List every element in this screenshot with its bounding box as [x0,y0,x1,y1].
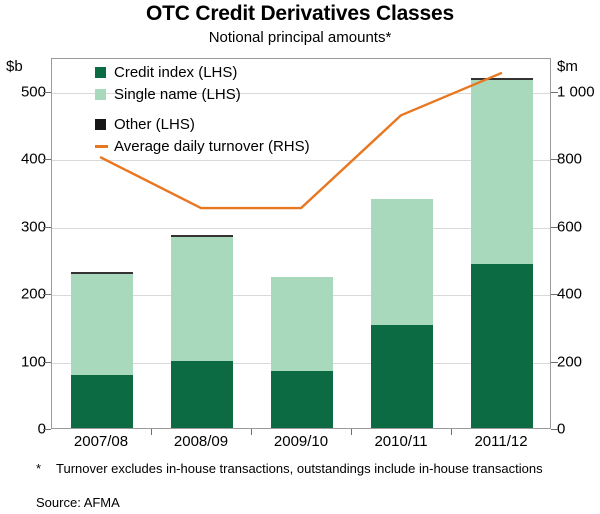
y-axis-left-tick-label: 100 [0,353,46,370]
chart-title: OTC Credit Derivatives Classes [0,2,600,26]
bar-segment-credit-index[interactable] [471,264,533,428]
bar-segment-credit-index[interactable] [371,325,433,428]
y-axis-right-tick-label: 800 [557,151,582,168]
legend-item-average-daily-turnover: Average daily turnover (RHS) [95,136,310,157]
x-axis-tick-label: 2011/12 [474,433,527,450]
y-axis-right-tick-label: 0 [557,421,565,438]
y-axis-left-tick-mark [43,294,51,295]
x-axis-tick-mark [351,429,352,435]
y-axis-left-tick-label: 0 [0,421,46,438]
legend-swatch-other-icon [95,119,106,130]
bar-segment-other[interactable] [471,78,533,80]
x-axis-tick-label: 2008/09 [174,433,228,450]
footnote-marker: * [36,461,52,477]
y-axis-left-tick-label: 400 [0,151,46,168]
chart-legend: Credit index (LHS) Single name (LHS) Oth… [95,62,310,158]
bar-group[interactable] [371,57,433,428]
y-axis-right-tick-mark [551,227,558,228]
y-axis-right-tick-mark [551,159,558,160]
footnote: * Turnover excludes in-house transaction… [36,461,566,477]
y-axis-left-tick-mark [43,159,51,160]
y-axis-right-tick-label: 600 [557,218,582,235]
right-axis-unit-label: $m [557,58,578,75]
y-axis-left-tick-mark [43,362,51,363]
bar-segment-single-name[interactable] [471,80,533,264]
footnote-text: Turnover excludes in-house transactions,… [56,461,566,477]
y-axis-right-tick-mark [551,92,558,93]
legend-item-other: Other (LHS) [95,114,310,135]
bar-segment-credit-index[interactable] [71,375,133,428]
y-axis-right-tick-label: 400 [557,286,582,303]
y-axis-left-tick-label: 300 [0,218,46,235]
bar-group[interactable] [471,57,533,428]
y-axis-left-tick-label: 200 [0,286,46,303]
y-axis-right-tick-mark [551,294,558,295]
legend-line-turnover-icon [95,145,108,148]
legend-swatch-single-name-icon [95,89,106,100]
bar-segment-other[interactable] [171,235,233,237]
x-axis-tick-label: 2010/11 [374,433,427,450]
legend-label-other: Other (LHS) [114,116,195,133]
x-axis-tick-mark [151,429,152,435]
x-axis-tick-mark [451,429,452,435]
y-axis-left-tick-mark [43,429,51,430]
y-axis-left-tick-label: 500 [0,83,46,100]
bar-segment-single-name[interactable] [271,277,333,371]
legend-label-credit-index: Credit index (LHS) [114,64,237,81]
y-axis-right-tick-label: 1 000 [557,83,595,100]
y-axis-right-tick-mark [551,362,558,363]
legend-label-average-daily-turnover: Average daily turnover (RHS) [114,138,310,155]
x-axis-tick-label: 2009/10 [274,433,328,450]
legend-item-credit-index: Credit index (LHS) [95,62,310,83]
bar-segment-credit-index[interactable] [171,361,233,428]
left-axis-unit-label: $b [6,58,23,75]
bar-segment-single-name[interactable] [71,274,133,375]
source-label: Source: AFMA [36,495,120,510]
y-axis-right-tick-label: 200 [557,353,582,370]
y-axis-right-tick-mark [551,429,558,430]
y-axis-left-tick-mark [43,227,51,228]
bar-segment-other[interactable] [71,272,133,275]
legend-label-single-name: Single name (LHS) [114,86,241,103]
chart-subtitle: Notional principal amounts* [0,29,600,46]
bar-segment-credit-index[interactable] [271,371,333,428]
x-axis-tick-mark [251,429,252,435]
bar-segment-single-name[interactable] [371,199,433,326]
y-axis-left-tick-mark [43,92,51,93]
legend-item-single-name: Single name (LHS) [95,84,310,105]
bar-segment-single-name[interactable] [171,237,233,360]
x-axis-tick-label: 2007/08 [74,433,128,450]
legend-swatch-credit-index-icon [95,67,106,78]
